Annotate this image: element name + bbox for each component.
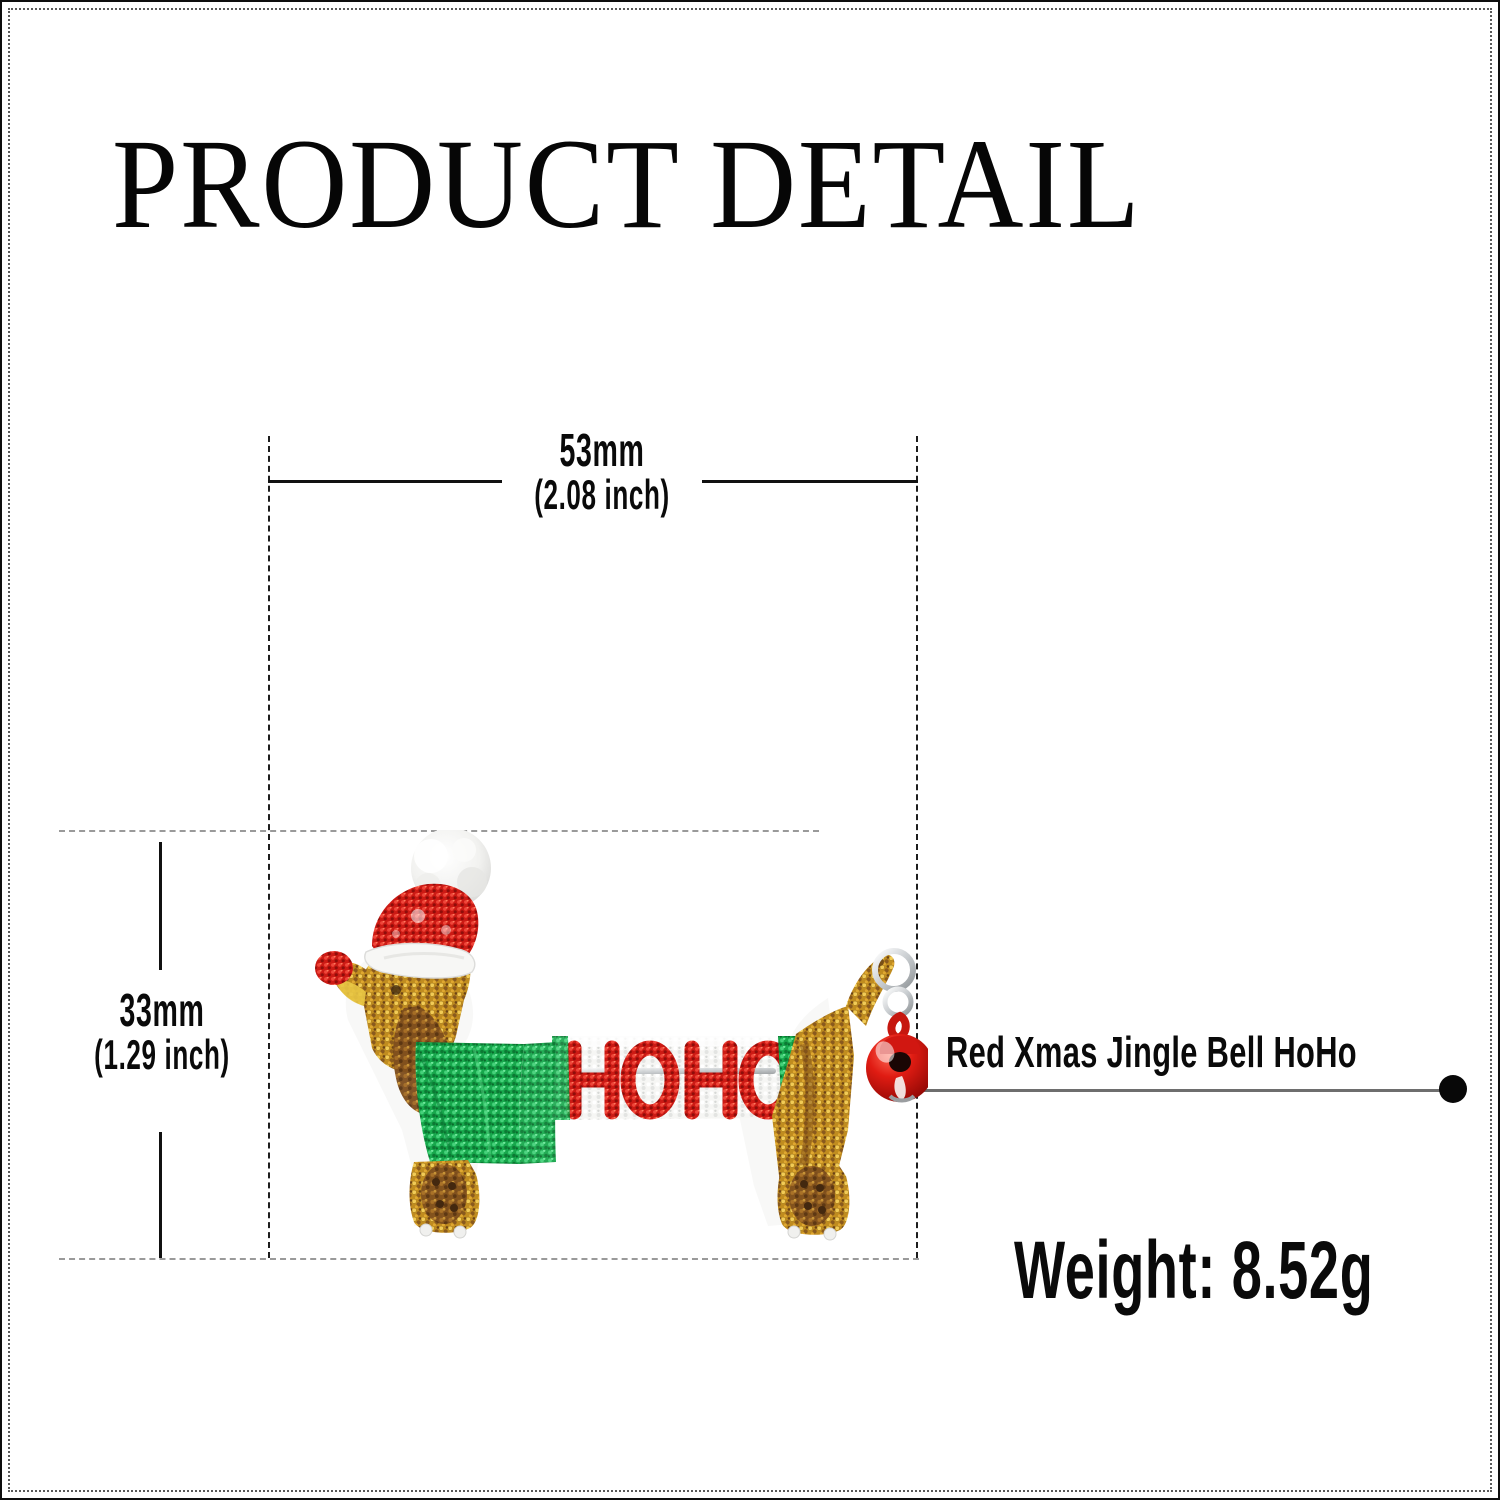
santa-hat bbox=[365, 884, 479, 978]
callout-label: Red Xmas Jingle Bell HoHo bbox=[946, 1028, 1357, 1078]
page-title: PRODUCT DETAIL bbox=[112, 120, 1141, 248]
hoho-banner bbox=[552, 1036, 812, 1120]
dog-nose bbox=[315, 951, 353, 985]
jingle-bell-assembly bbox=[866, 951, 928, 1102]
green-sweater bbox=[416, 1042, 558, 1164]
height-mm-value: 33mm bbox=[60, 987, 265, 1034]
product-image-dachshund-brooch bbox=[268, 830, 928, 1260]
callout-leader-line bbox=[880, 1089, 1448, 1092]
front-paw bbox=[410, 1160, 480, 1238]
height-dimension-line-bottom bbox=[159, 1132, 162, 1258]
callout-endpoint-dot bbox=[1439, 1075, 1467, 1103]
rear-paw bbox=[778, 1164, 850, 1240]
weight-label: Weight: 8.52g bbox=[1014, 1224, 1373, 1318]
width-dimension-label: 53mm (2.08 inch) bbox=[432, 427, 772, 517]
height-dimension-line-top bbox=[159, 842, 162, 970]
height-inch-value: (1.29 inch) bbox=[60, 1034, 265, 1077]
width-inch-value: (2.08 inch) bbox=[497, 474, 708, 517]
product-detail-page: PRODUCT DETAIL 53mm (2.08 inch) 33mm (1.… bbox=[0, 0, 1500, 1500]
width-mm-value: 53mm bbox=[497, 427, 708, 474]
jump-ring-small bbox=[885, 989, 911, 1015]
